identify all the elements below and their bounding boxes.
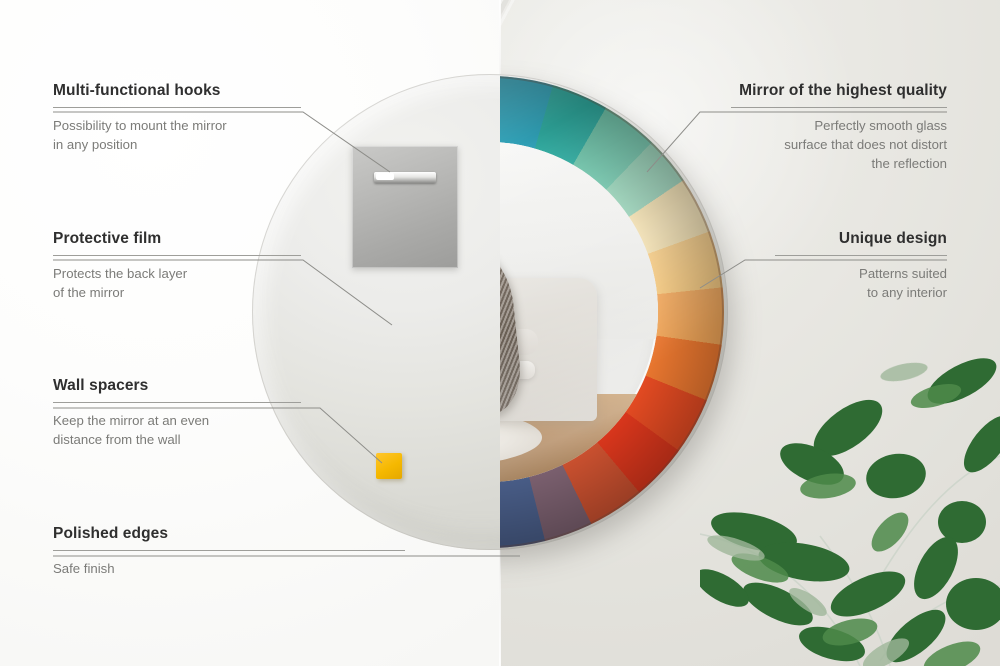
feature-block-multi-functional-hooks: Multi-functional hooks Possibility to mo…: [53, 82, 301, 154]
infographic-canvas: Multi-functional hooks Possibility to mo…: [0, 0, 1000, 666]
feature-desc-line2: of the mirror: [53, 285, 124, 300]
feature-title: Mirror of the highest quality: [731, 82, 947, 100]
feature-desc-line1: Protects the back layer: [53, 266, 187, 281]
feature-rule: [775, 255, 947, 256]
feature-description: Possibility to mount the mirror in any p…: [53, 116, 301, 154]
feature-desc-line1: Possibility to mount the mirror: [53, 118, 227, 133]
feature-rule: [53, 550, 405, 551]
feature-desc-line3: the reflection: [871, 156, 947, 171]
feature-desc-line1: Patterns suited: [859, 266, 947, 281]
feature-desc-line1: Keep the mirror at an even: [53, 413, 209, 428]
feature-block-wall-spacers: Wall spacers Keep the mirror at an even …: [53, 377, 301, 449]
feature-desc-line2: to any interior: [867, 285, 947, 300]
feature-desc-line2: distance from the wall: [53, 432, 181, 447]
feature-desc-line1: Perfectly smooth glass: [814, 118, 947, 133]
feature-rule: [53, 107, 301, 108]
feature-description: Patterns suited to any interior: [775, 264, 947, 302]
feature-title: Multi-functional hooks: [53, 82, 301, 100]
feature-description: Perfectly smooth glass surface that does…: [731, 116, 947, 173]
feature-title: Protective film: [53, 230, 301, 248]
feature-desc-line1: Safe finish: [53, 561, 115, 576]
feature-rule: [731, 107, 947, 108]
feature-block-protective-film: Protective film Protects the back layer …: [53, 230, 301, 302]
feature-block-unique-design: Unique design Patterns suited to any int…: [775, 230, 947, 302]
feature-title: Unique design: [775, 230, 947, 248]
feature-desc-line2: in any position: [53, 137, 137, 152]
feature-block-mirror-highest-quality: Mirror of the highest quality Perfectly …: [731, 82, 947, 173]
feature-desc-line2: surface that does not distort: [784, 137, 947, 152]
feature-rule: [53, 402, 301, 403]
feature-description: Safe finish: [53, 559, 405, 578]
feature-rule: [53, 255, 301, 256]
feature-title: Polished edges: [53, 525, 405, 543]
feature-description: Protects the back layer of the mirror: [53, 264, 301, 302]
feature-description: Keep the mirror at an even distance from…: [53, 411, 301, 449]
feature-title: Wall spacers: [53, 377, 301, 395]
feature-block-polished-edges: Polished edges Safe finish: [53, 525, 405, 578]
